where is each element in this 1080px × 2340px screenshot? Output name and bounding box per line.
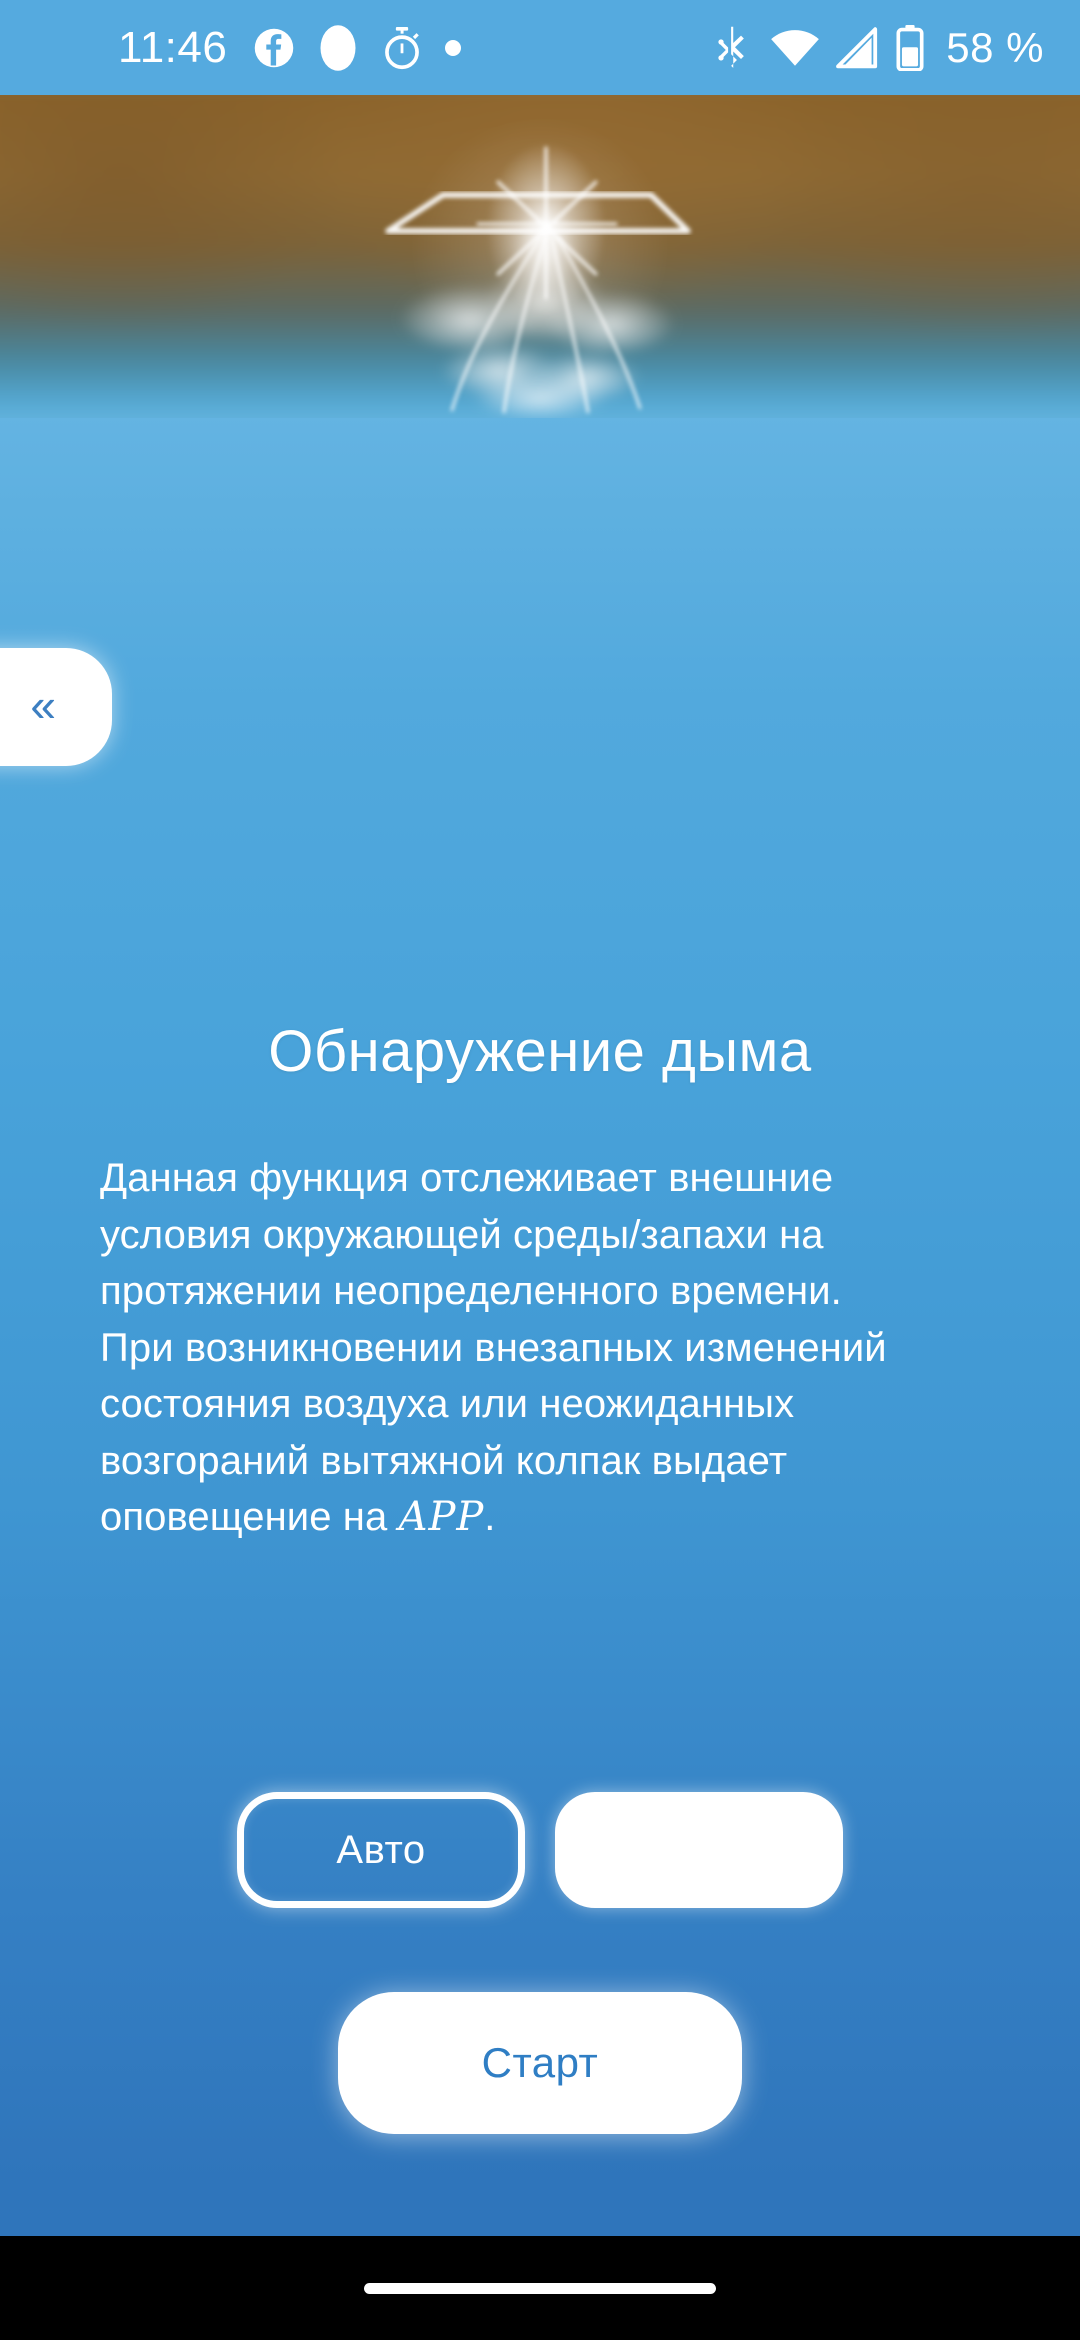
- status-bar: 11:46: [0, 0, 1080, 95]
- status-bar-right: 58 %: [716, 24, 1044, 72]
- gesture-home-pill[interactable]: [364, 2283, 716, 2294]
- mode-auto-button[interactable]: Авто: [237, 1792, 525, 1908]
- description-line: условия окружающей среды/запахи на: [100, 1213, 824, 1257]
- double-chevron-left-icon: «: [30, 682, 54, 728]
- battery-icon: [896, 25, 924, 71]
- cellular-signal-icon: [836, 27, 880, 69]
- small-dot-icon: [445, 40, 461, 56]
- main-content: Обнаружение дыма Данная функция отслежив…: [0, 0, 1080, 2340]
- notification-dot-icon: [317, 23, 359, 73]
- mode-button-row: Авто: [0, 1792, 1080, 1908]
- feature-description: Данная функция отслеживает внешние услов…: [100, 1150, 980, 1546]
- description-line-prefix: оповещение на: [100, 1495, 399, 1539]
- app-screen: 11:46: [0, 0, 1080, 2340]
- description-line-suffix: .: [484, 1495, 495, 1539]
- page-title: Обнаружение дыма: [0, 1018, 1080, 1085]
- bluetooth-icon: [716, 25, 754, 71]
- start-button-label: Старт: [482, 2039, 599, 2087]
- wifi-icon: [770, 28, 820, 68]
- description-line: возгораний вытяжной колпак выдает: [100, 1439, 787, 1483]
- mode-auto-label: Авто: [336, 1828, 425, 1873]
- status-bar-left: 11:46: [118, 23, 461, 73]
- mode-secondary-button[interactable]: [555, 1792, 843, 1908]
- status-bar-notification-icons: [253, 23, 461, 73]
- description-line: протяжении неопределенного времени.: [100, 1269, 842, 1313]
- facebook-icon: [253, 27, 295, 69]
- status-bar-clock: 11:46: [118, 26, 227, 70]
- description-line: Данная функция отслеживает внешние: [100, 1156, 833, 1200]
- timer-icon: [381, 25, 423, 71]
- start-button[interactable]: Старт: [338, 1992, 742, 2134]
- description-line: состояния воздуха или неожиданных: [100, 1382, 794, 1426]
- app-keyword: APP: [399, 1494, 485, 1540]
- back-button[interactable]: «: [0, 648, 112, 766]
- description-line: При возникновении внезапных изменений: [100, 1326, 887, 1370]
- system-navigation-bar: [0, 2236, 1080, 2340]
- battery-percent-label: 58 %: [946, 24, 1044, 72]
